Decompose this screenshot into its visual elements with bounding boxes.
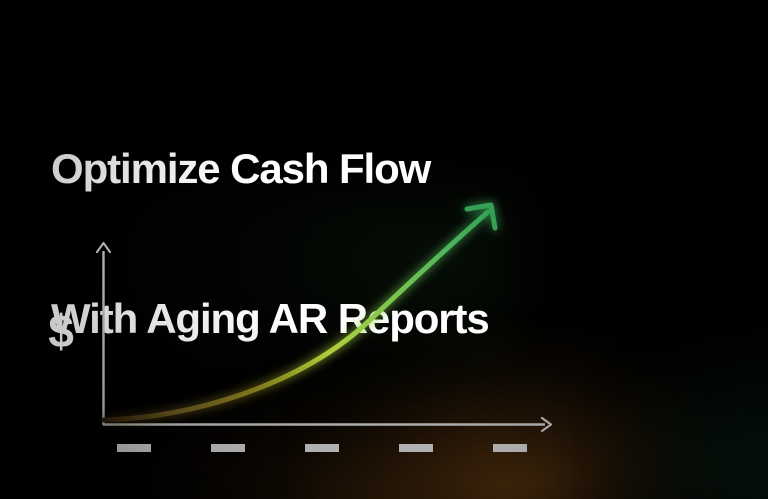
x-axis [103,418,551,431]
x-axis-tick-3 [305,444,339,452]
y-axis-arrow-icon [97,243,110,252]
x-axis-tick-4 [399,444,433,452]
x-axis-tick-1 [117,444,151,452]
y-axis [97,243,110,425]
x-axis-tick-5 [493,444,527,452]
x-axis-tick-2 [211,444,245,452]
growth-chart [0,0,768,499]
y-axis-currency-label: $ [44,306,78,356]
growth-curve [104,205,495,420]
promo-banner: Optimize Cash Flow With Aging AR Reports [0,0,768,499]
